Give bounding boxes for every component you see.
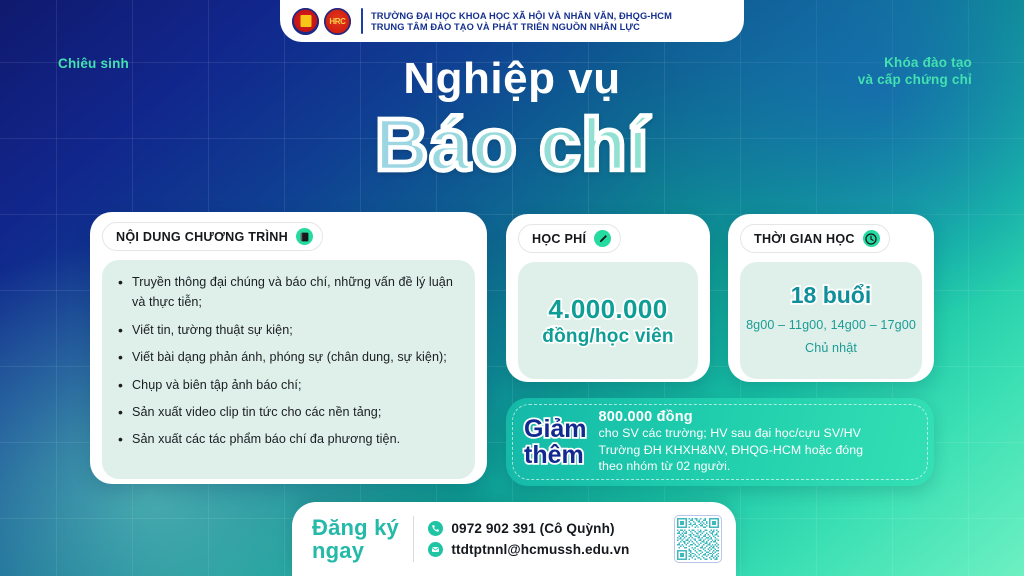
register-now-line-2: ngay	[312, 539, 399, 562]
contact-divider	[413, 516, 414, 562]
pencil-icon	[594, 230, 611, 247]
list-item: Truyền thông đại chúng và báo chí, những…	[112, 272, 461, 313]
header-ribbon: HRC TRƯỜNG ĐẠI HỌC KHOA HỌC XÃ HỘI VÀ NH…	[280, 0, 744, 42]
tuition-fee-panel: 4.000.000 đồng/học viên	[518, 262, 698, 379]
discount-title-line-2: thêm	[524, 442, 587, 468]
register-now-title: Đăng ký ngay	[312, 516, 399, 563]
program-content-card: NỘI DUNG CHƯƠNG TRÌNH Truyền thông đại c…	[90, 212, 487, 484]
register-now-line-1: Đăng ký	[312, 516, 399, 539]
hrc-emblem-icon: HRC	[324, 8, 351, 35]
tag-certificate-line-2: và cấp chứng chỉ	[858, 71, 972, 88]
list-item: Viết bài dạng phản ánh, phóng sự (chân d…	[112, 347, 461, 367]
discount-desc-line-2: Trường ĐH KHXH&NV, ĐHQG-HCM hoặc đóng	[599, 442, 864, 459]
study-time-header: THỜI GIAN HỌC	[740, 224, 890, 253]
tuition-fee-card: HỌC PHÍ 4.000.000 đồng/học viên	[506, 214, 710, 382]
institution-line-2: TRUNG TÂM ĐÀO TẠO VÀ PHÁT TRIỂN NGUỒN NH…	[371, 22, 672, 32]
list-item: Viết tin, tường thuật sự kiện;	[112, 320, 461, 340]
program-content-label: NỘI DUNG CHƯƠNG TRÌNH	[116, 230, 288, 244]
envelope-icon	[428, 542, 443, 557]
study-time-sessions: 18 buổi	[791, 282, 872, 309]
ribbon-divider	[361, 8, 363, 34]
contact-email: ttdtptnnl@hcmussh.edu.vn	[451, 542, 629, 557]
discount-details: 800.000 đồng cho SV các trường; HV sau đ…	[599, 409, 864, 476]
logo-group: HRC	[292, 8, 351, 35]
study-time-panel: 18 buổi 8g00 – 11g00, 14g00 – 17g00 Chủ …	[740, 262, 922, 379]
tuition-fee-unit: đồng/học viên	[542, 326, 673, 348]
tuition-fee-header: HỌC PHÍ	[518, 224, 621, 253]
program-content-header: NỘI DUNG CHƯƠNG TRÌNH	[102, 222, 323, 251]
book-icon	[296, 228, 313, 245]
list-item: Sản xuất các tác phẩm báo chí đa phương …	[112, 429, 461, 449]
discount-title: Giảm thêm	[524, 416, 587, 468]
study-time-hours: 8g00 – 11g00, 14g00 – 17g00	[746, 314, 916, 336]
study-time-label: THỜI GIAN HỌC	[754, 232, 855, 246]
list-item: Sản xuất video clip tin tức cho các nền …	[112, 402, 461, 422]
ussh-emblem-icon	[292, 8, 319, 35]
discount-amount: 800.000 đồng	[599, 409, 864, 425]
discount-banner: Giảm thêm 800.000 đồng cho SV các trường…	[506, 398, 934, 486]
registration-bar: Đăng ký ngay 0972 902 391 (Cô Quỳnh) ttd…	[292, 502, 736, 576]
contact-email-row[interactable]: ttdtptnnl@hcmussh.edu.vn	[428, 542, 660, 557]
tuition-fee-label: HỌC PHÍ	[532, 232, 586, 246]
discount-desc-line-1: cho SV các trường; HV sau đại học/cựu SV…	[599, 425, 864, 442]
contact-phone-row[interactable]: 0972 902 391 (Cô Quỳnh)	[428, 521, 660, 536]
tuition-fee-amount: 4.000.000	[548, 294, 667, 325]
institution-name: TRƯỜNG ĐẠI HỌC KHOA HỌC XÃ HỘI VÀ NHÂN V…	[371, 11, 672, 32]
contact-details: 0972 902 391 (Cô Quỳnh) ttdtptnnl@hcmuss…	[428, 521, 660, 557]
contact-phone: 0972 902 391 (Cô Quỳnh)	[451, 521, 614, 536]
qr-code[interactable]	[674, 515, 722, 563]
list-item: Chụp và biên tập ảnh báo chí;	[112, 375, 461, 395]
tag-enrollment: Chiêu sinh	[58, 56, 129, 71]
program-list: Truyền thông đại chúng và báo chí, những…	[112, 272, 461, 450]
program-content-panel: Truyền thông đại chúng và báo chí, những…	[102, 260, 475, 479]
tag-certificate-line-1: Khóa đào tạo	[858, 54, 972, 71]
tag-certificate: Khóa đào tạo và cấp chứng chỉ	[858, 54, 972, 89]
clock-icon	[863, 230, 880, 247]
discount-desc-line-3: theo nhóm từ 02 người.	[599, 458, 864, 475]
study-time-card: THỜI GIAN HỌC 18 buổi 8g00 – 11g00, 14g0…	[728, 214, 934, 382]
discount-title-line-1: Giảm	[524, 416, 587, 442]
study-time-day: Chủ nhật	[805, 337, 857, 359]
phone-icon	[428, 521, 443, 536]
hero-headline: Báo chí	[0, 100, 1024, 190]
institution-line-1: TRƯỜNG ĐẠI HỌC KHOA HỌC XÃ HỘI VÀ NHÂN V…	[371, 11, 672, 21]
